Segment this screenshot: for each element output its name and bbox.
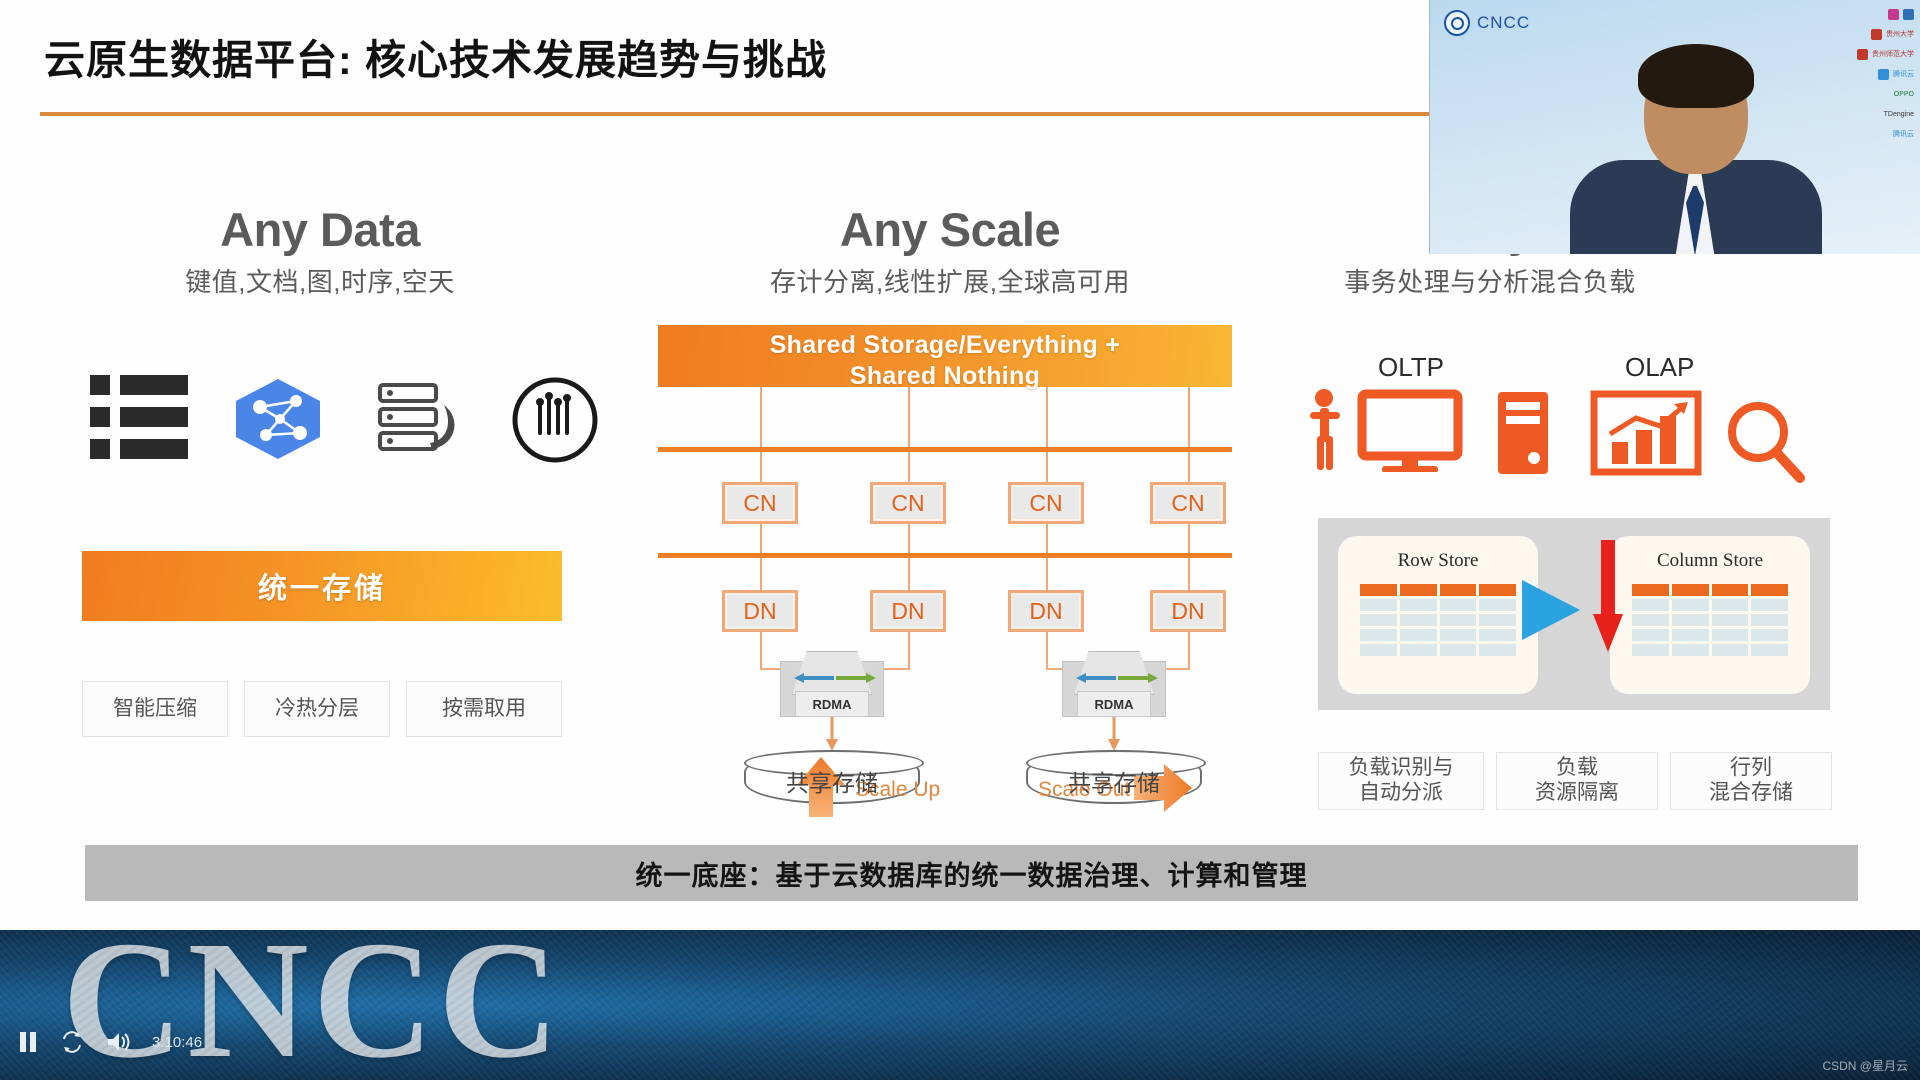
row-store-grid <box>1360 584 1516 656</box>
speaker-hair <box>1638 44 1754 108</box>
down-arrow-icon <box>825 717 839 753</box>
red-down-arrow-icon <box>1593 540 1623 652</box>
chip-line-2: 资源隔离 <box>1535 781 1619 804</box>
loop-button[interactable] <box>60 1030 84 1054</box>
chip-line-2: 混合存储 <box>1709 781 1793 804</box>
volume-button[interactable] <box>106 1031 130 1053</box>
presentation-slide: 云原生数据平台: 核心技术发展趋势与挑战 Any Data 键值,文档,图,时序… <box>0 0 1920 930</box>
camera-sponsor-strip: 贵州大学 贵州师范大学 腾讯云 OPPO TDengine 腾讯云 <box>1802 4 1914 144</box>
rdma-label: RDMA <box>1077 691 1151 717</box>
oltp-label: OLTP <box>1378 352 1444 383</box>
connector <box>908 632 910 668</box>
dn-node: DN <box>1008 590 1084 632</box>
shared-storage-label: 共享存储 <box>786 764 878 798</box>
chip-resource-isolation: 负载 资源隔离 <box>1496 752 1658 810</box>
cn-node: CN <box>722 482 798 524</box>
connector <box>1046 452 1048 482</box>
rdma-exchange-arrows <box>1070 671 1162 685</box>
chip-line-1: 负载识别与 <box>1349 756 1454 779</box>
connector <box>908 452 910 482</box>
column-heading-any-data: Any Data 键值,文档,图,时序,空天 <box>60 205 580 299</box>
connector <box>1046 558 1048 590</box>
cn-node: CN <box>1008 482 1084 524</box>
oltp-person-monitor-icon <box>1310 388 1510 472</box>
column-heading-any-scale: Any Scale 存计分离,线性扩展,全球高可用 <box>690 205 1210 299</box>
video-player-bar: CNCC 3:10:46 支持单位: BIG DATA <box>0 930 1920 1080</box>
key-value-list-icon <box>90 375 188 459</box>
any-data-title: Any Data <box>60 205 580 254</box>
connector <box>1046 632 1048 668</box>
connector <box>908 524 910 556</box>
unified-storage-label: 统一存储 <box>258 565 386 607</box>
olap-magnifier-icon <box>1722 398 1808 484</box>
chip-hybrid-storage: 行列 混合存储 <box>1670 752 1832 810</box>
shared-storage-label: 共享存储 <box>1068 764 1160 798</box>
connector <box>760 387 762 447</box>
any-data-subtitle: 键值,文档,图,时序,空天 <box>60 262 580 299</box>
any-scale-subtitle: 存计分离,线性扩展,全球高可用 <box>690 262 1210 299</box>
shared-storage-banner: Shared Storage/Everything + Shared Nothi… <box>658 325 1232 387</box>
chip-line-1: 负载 <box>1556 756 1598 779</box>
unified-base-label: 统一底座：基于云数据库的统一数据治理、计算和管理 <box>636 854 1308 893</box>
top-bus-line <box>658 447 1232 452</box>
player-controls: 3:10:46 <box>18 1030 202 1054</box>
cncc-camera-logo: CNCC <box>1444 10 1530 36</box>
connector <box>760 558 762 590</box>
connector <box>1188 558 1190 590</box>
speaker-camera-overlay[interactable]: CNCC 贵州大学 贵州师范大学 腾讯云 OPPO TDengine 腾讯云 <box>1429 0 1920 254</box>
cn-node: CN <box>1150 482 1226 524</box>
connector <box>1188 632 1190 668</box>
rdma-exchange-arrows <box>788 671 880 685</box>
dn-node: DN <box>722 590 798 632</box>
graph-node-icon <box>230 375 326 463</box>
connector <box>908 558 910 590</box>
dn-node: DN <box>870 590 946 632</box>
any-workload-subtitle: 事务处理与分析混合负载 <box>1230 262 1750 299</box>
timeseries-disk-icon <box>370 375 466 463</box>
dn-node: DN <box>1150 590 1226 632</box>
chip-workload-recognition: 负载识别与 自动分派 <box>1318 752 1484 810</box>
csdn-watermark: CSDN @星月云 <box>1822 1057 1908 1074</box>
connector <box>1188 524 1190 556</box>
unified-base-band: 统一底座：基于云数据库的统一数据治理、计算和管理 <box>85 845 1858 901</box>
unified-storage-bar: 统一存储 <box>82 551 562 621</box>
pause-button[interactable] <box>18 1030 38 1054</box>
any-scale-architecture-diagram: Shared Storage/Everything + Shared Nothi… <box>650 325 1230 805</box>
olap-bar-chart-icon <box>1590 388 1710 478</box>
rdma-label: RDMA <box>795 691 869 717</box>
connector <box>1188 452 1190 482</box>
connector <box>760 452 762 482</box>
cncc-watermark: CNCC <box>62 930 563 1080</box>
banner-line-2: Shared Nothing <box>658 361 1232 392</box>
down-arrow-icon <box>1107 717 1121 753</box>
chip-line-2: 自动分派 <box>1359 781 1443 804</box>
cncc-logo-text: CNCC <box>1477 13 1530 33</box>
row-store-card: Row Store <box>1338 536 1538 694</box>
time-display: 3:10:46 <box>152 1034 202 1051</box>
ccf-emblem-icon <box>1444 10 1470 36</box>
any-scale-title: Any Scale <box>690 205 1210 254</box>
column-store-title: Column Store <box>1610 550 1810 572</box>
column-store-grid <box>1632 584 1788 656</box>
connector <box>1046 387 1048 447</box>
row-store-title: Row Store <box>1338 550 1538 572</box>
connector <box>1046 524 1048 556</box>
chip-on-demand: 按需取用 <box>406 681 562 737</box>
cn-node: CN <box>870 482 946 524</box>
middle-bus-line <box>658 553 1232 558</box>
connector <box>908 387 910 447</box>
banner-line-1: Shared Storage/Everything + <box>658 330 1232 361</box>
connector <box>760 632 762 668</box>
chip-hot-cold-tiering: 冷热分层 <box>244 681 390 737</box>
waveform-circle-icon <box>510 375 600 465</box>
chip-line-1: 行列 <box>1730 756 1772 779</box>
column-store-card: Column Store <box>1610 536 1810 694</box>
page-title: 云原生数据平台: 核心技术发展趋势与挑战 <box>44 26 827 86</box>
olap-label: OLAP <box>1625 352 1694 383</box>
connector <box>1188 387 1190 447</box>
chip-intelligent-compression: 智能压缩 <box>82 681 228 737</box>
oltp-server-tower-icon <box>1496 390 1554 476</box>
connector <box>760 524 762 556</box>
any-data-icon-row <box>70 375 580 475</box>
blue-funnel-arrow-icon <box>1522 580 1580 640</box>
